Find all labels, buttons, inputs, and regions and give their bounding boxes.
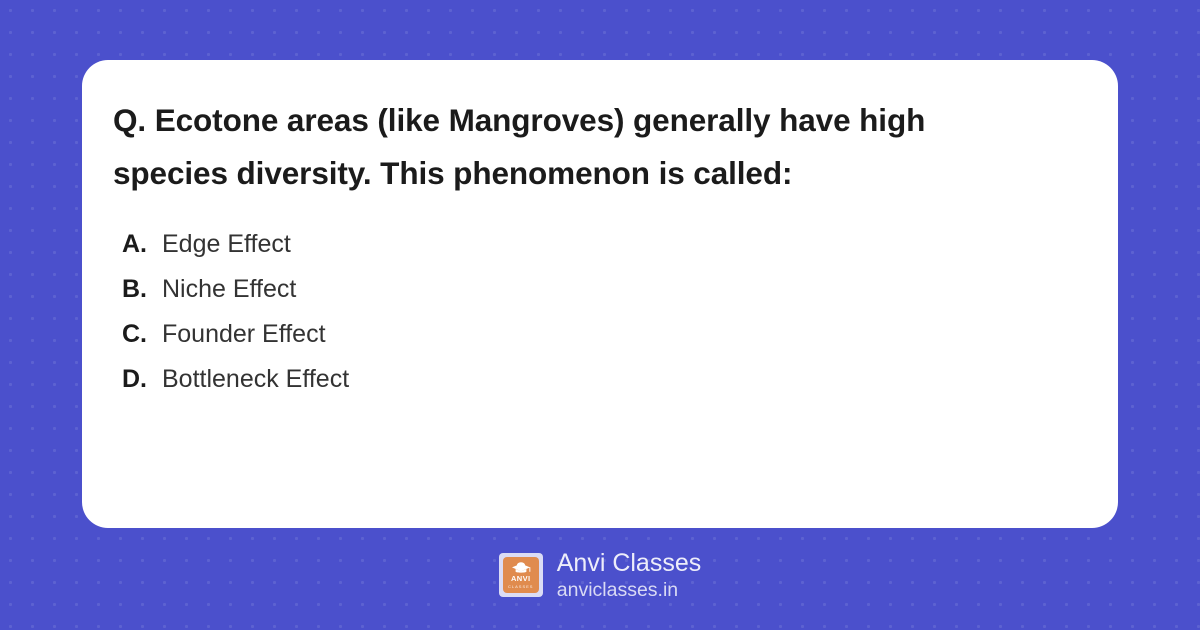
brand-logo-subword: CLASSES — [508, 584, 533, 589]
graduation-cap-icon — [511, 562, 531, 574]
quiz-slide: Q. Ecotone areas (like Mangroves) genera… — [0, 0, 1200, 630]
option-c-text: Founder Effect — [162, 312, 326, 357]
option-d-letter: D. — [122, 357, 162, 402]
brand-logo-tile: ANVI CLASSES — [503, 557, 539, 593]
option-b-text: Niche Effect — [162, 267, 296, 312]
brand-name: Anvi Classes — [557, 549, 702, 578]
question-card: Q. Ecotone areas (like Mangroves) genera… — [82, 60, 1118, 528]
option-a-text: Edge Effect — [162, 222, 291, 267]
option-c-letter: C. — [122, 312, 162, 357]
brand-footer: ANVI CLASSES Anvi Classes anviclasses.in — [0, 543, 1200, 607]
option-b[interactable]: B. Niche Effect — [113, 267, 1078, 312]
option-d-text: Bottleneck Effect — [162, 357, 349, 402]
option-d[interactable]: D. Bottleneck Effect — [113, 357, 1078, 402]
option-a[interactable]: A. Edge Effect — [113, 222, 1078, 267]
question-text: Q. Ecotone areas (like Mangroves) genera… — [113, 94, 1043, 200]
option-b-letter: B. — [122, 267, 162, 312]
brand-logo-word: ANVI — [511, 575, 531, 583]
brand-text-block: Anvi Classes anviclasses.in — [557, 549, 702, 602]
option-a-letter: A. — [122, 222, 162, 267]
brand-logo: ANVI CLASSES — [499, 553, 543, 597]
option-c[interactable]: C. Founder Effect — [113, 312, 1078, 357]
brand-url[interactable]: anviclasses.in — [557, 578, 702, 602]
options-list: A. Edge Effect B. Niche Effect C. Founde… — [113, 222, 1078, 402]
